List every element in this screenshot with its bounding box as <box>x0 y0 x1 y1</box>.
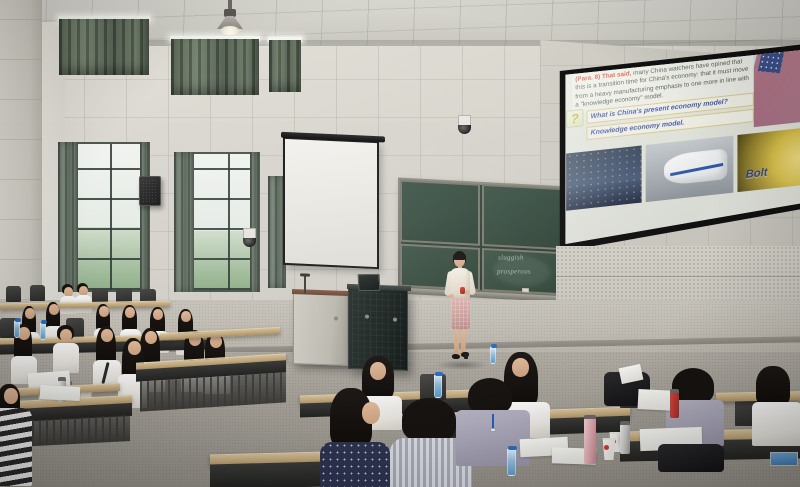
attendee-head <box>4 388 18 404</box>
student-shirt <box>53 343 79 373</box>
attendee-shirt <box>752 402 800 446</box>
projector-screen-surface: ✦ 2. Self-exploration: exploring the sen… <box>564 48 800 246</box>
student-head <box>128 341 141 355</box>
structural-pillar <box>0 0 42 300</box>
classroom-photo: sluggish prosperous ✦ 2. Self-exploratio… <box>0 0 800 487</box>
student-head <box>145 331 157 344</box>
instructor-skirt <box>451 298 470 330</box>
water-bottle[interactable] <box>434 374 442 398</box>
window-center <box>190 152 256 292</box>
projector-screen[interactable]: ✦ 2. Self-exploration: exploring the sen… <box>556 44 800 252</box>
instructor <box>443 251 477 365</box>
bullet-train-photo <box>646 135 734 202</box>
city-skyline-photo <box>566 145 641 210</box>
blackboard-panel-upper-right[interactable] <box>482 184 566 250</box>
bolt-logo-photo: Bolt <box>737 126 800 192</box>
student-head <box>99 306 109 317</box>
window-curtain-left-a[interactable] <box>58 142 78 292</box>
handheld-microphone-icon <box>460 287 465 294</box>
seatback <box>6 286 21 302</box>
attendee-striped-top <box>0 408 32 486</box>
attendee-hair <box>756 366 790 406</box>
name-badge <box>490 428 496 432</box>
attendee-head <box>512 358 529 377</box>
student-head <box>153 309 163 320</box>
blackboard-eraser[interactable] <box>522 288 529 292</box>
window-left <box>72 142 146 292</box>
student-head <box>49 304 59 315</box>
mobile-phone[interactable] <box>464 352 468 359</box>
attendee-hair <box>468 378 512 414</box>
student-head <box>60 329 72 342</box>
window-curtain-center-a[interactable] <box>174 152 194 292</box>
slide-title-prefix: 2. <box>574 53 586 67</box>
student-head <box>181 311 191 322</box>
chalk-text-line-1: sluggish <box>498 253 524 262</box>
water-bottle[interactable] <box>14 320 20 338</box>
pendant-lamp-icon <box>213 0 247 36</box>
clerestory-curtain-2 <box>171 39 259 95</box>
window-curtain-center-b[interactable] <box>250 152 260 292</box>
wall-speaker-icon <box>139 176 161 206</box>
vacuum-flask[interactable] <box>620 424 630 454</box>
name-badge-lanyard <box>492 414 494 428</box>
american-flag-photo <box>754 48 800 127</box>
notebook[interactable] <box>770 452 798 466</box>
clerestory-curtain-3 <box>269 40 301 92</box>
bolt-logo-text: Bolt <box>746 166 768 181</box>
clerestory-curtain-1 <box>59 19 149 75</box>
blackboard-panel-upper-left[interactable] <box>400 180 480 246</box>
chalk-text-line-2: prosperous <box>497 268 531 277</box>
attendee-polka-top <box>320 442 390 487</box>
attendee-hair <box>402 398 456 442</box>
attendee-head <box>362 402 380 424</box>
sparkle-icon: ✦ <box>564 55 571 65</box>
handout-papers[interactable] <box>40 385 81 401</box>
instructor-shoe-left <box>452 354 460 359</box>
student-head <box>125 307 135 318</box>
slide-title-highlight: Self <box>587 50 607 64</box>
vacuum-flask[interactable] <box>670 392 679 418</box>
backpack[interactable] <box>658 444 724 472</box>
water-bottle[interactable] <box>507 448 516 476</box>
attendee-head <box>370 362 386 380</box>
student-head <box>25 308 35 319</box>
vacuum-flask[interactable] <box>584 418 596 464</box>
seatback <box>30 285 45 301</box>
question-mark-icon: ? <box>566 109 583 128</box>
seatback <box>420 374 446 400</box>
instructor-hair-front <box>453 253 466 260</box>
water-bottle[interactable] <box>490 346 496 364</box>
lecture-podium[interactable] <box>293 292 348 366</box>
presentation-slide: ✦ 2. Self-exploration: exploring the sen… <box>564 48 800 246</box>
blackboard: sluggish prosperous <box>398 178 568 298</box>
water-bottle[interactable] <box>40 322 46 340</box>
pull-down-projection-screen[interactable] <box>283 137 379 269</box>
student-head <box>101 329 113 342</box>
console-monitor[interactable] <box>358 274 381 291</box>
window-curtain-left-b[interactable] <box>140 142 150 292</box>
